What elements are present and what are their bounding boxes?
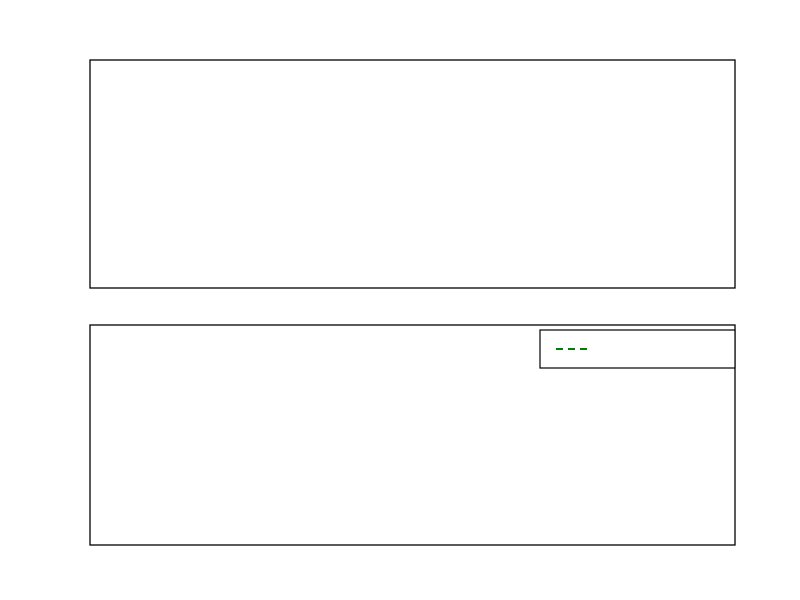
matplotlib-figure [0, 0, 800, 600]
figure-canvas [0, 0, 800, 600]
top-axes [90, 60, 735, 288]
bottom-axes [0, 0, 735, 545]
legend [540, 330, 735, 368]
top-axes-frame [90, 60, 735, 288]
